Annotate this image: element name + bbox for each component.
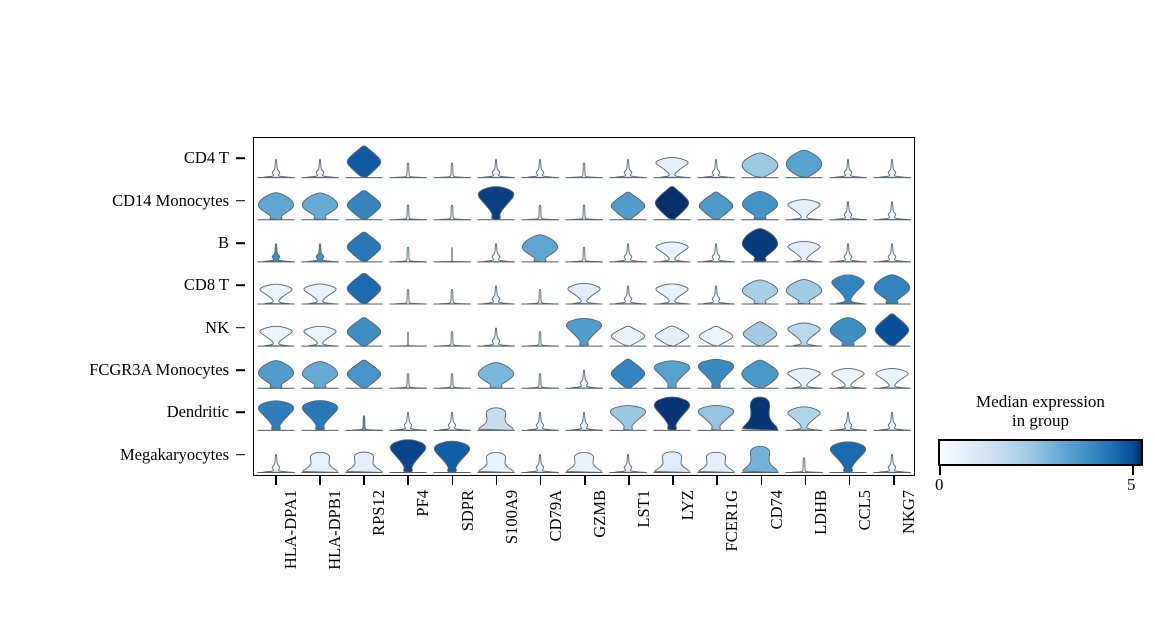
violin-body — [396, 412, 427, 430]
violin-dendritic-hla-dpa1 — [258, 401, 295, 430]
violin-cd8-t-hla-dpb1 — [302, 284, 339, 304]
violin-body — [567, 453, 602, 473]
violin-body — [788, 200, 821, 220]
violin-cd8-t-pf4 — [390, 289, 427, 303]
violin-body — [528, 289, 558, 303]
colorbar-max-label: 5 — [1127, 475, 1136, 495]
violin-megakaryocytes-s100a9 — [478, 453, 515, 473]
violin-fcgr3a-monocytes-sdpr — [434, 374, 471, 388]
violin-b-gzmb — [566, 247, 603, 261]
x-axis-labels: HLA-DPA1HLA-DPB1RPS12PF4SDPRS100A9CD79AG… — [253, 476, 915, 634]
violin-cd14-monocytes-ccl5 — [830, 202, 867, 220]
violin-nk-lst1 — [610, 326, 647, 346]
violin-cd4-t-cd79a — [522, 159, 559, 177]
x-axis-label-hla-dpb1: HLA-DPB1 — [325, 490, 345, 570]
violin-body — [396, 205, 426, 219]
violin-body — [302, 361, 337, 388]
violin-body — [876, 368, 909, 388]
violin-cd14-monocytes-lyz — [654, 186, 691, 219]
violin-cd4-t-ldhb — [786, 150, 823, 177]
violin-body — [304, 326, 337, 346]
y-axis-labels: CD4 TCD14 MonocytesBCD8 TNKFCGR3A Monocy… — [0, 137, 245, 476]
violin-body — [396, 374, 426, 388]
violin-body — [656, 284, 689, 304]
x-tick — [672, 476, 674, 485]
violin-body — [478, 187, 513, 220]
violin-body — [786, 150, 822, 177]
violin-body — [260, 284, 293, 304]
violin-body — [347, 360, 380, 388]
violin-cd14-monocytes-nkg7 — [874, 202, 911, 220]
violin-megakaryocytes-ldhb — [786, 458, 823, 472]
violin-dendritic-pf4 — [390, 412, 427, 430]
violin-body — [743, 397, 778, 430]
violin-body — [396, 289, 426, 303]
x-axis-label-gzmb: GZMB — [590, 490, 610, 538]
violin-body — [264, 244, 295, 262]
violin-nk-hla-dpa1 — [258, 326, 295, 346]
x-axis-label-ldhb: LDHB — [811, 490, 831, 535]
violin-body — [788, 407, 821, 431]
figure-canvas: CD4 TCD14 MonocytesBCD8 TNKFCGR3A Monocy… — [0, 0, 1155, 634]
violin-body — [880, 244, 911, 262]
violin-megakaryocytes-lst1 — [610, 454, 647, 472]
violin-body — [656, 242, 689, 262]
colorbar-wrap: 0 5 — [938, 439, 1143, 466]
y-axis-label-megakaryocytes: Megakaryocytes — [120, 445, 229, 465]
violin-body — [522, 235, 557, 262]
violin-body — [742, 153, 778, 178]
violin-body — [258, 361, 293, 389]
x-tick — [761, 476, 763, 485]
x-axis-label-rps12: RPS12 — [369, 490, 389, 536]
violin-body — [743, 446, 778, 472]
violin-body — [484, 328, 515, 346]
x-axis-label-s100a9: S100A9 — [502, 490, 522, 544]
violin-b-rps12 — [346, 232, 383, 262]
violin-dendritic-fcer1g — [698, 405, 735, 430]
violin-body — [880, 454, 911, 472]
x-tick — [452, 476, 454, 485]
violin-body — [786, 280, 821, 304]
violin-body — [610, 406, 645, 431]
violin-fcgr3a-monocytes-ccl5 — [830, 368, 867, 388]
violin-b-s100a9 — [478, 244, 515, 262]
violin-body — [303, 452, 338, 472]
legend-title-line2: in group — [938, 411, 1143, 430]
violin-dendritic-cd79a — [522, 412, 559, 430]
x-axis-label-lst1: LST1 — [634, 490, 654, 528]
violin-b-fcer1g — [698, 244, 735, 262]
x-tick — [540, 476, 542, 485]
violin-body — [528, 374, 558, 388]
violin-cd14-monocytes-s100a9 — [478, 187, 515, 220]
violin-cd8-t-lyz — [654, 284, 691, 304]
violin-megakaryocytes-pf4 — [390, 440, 427, 473]
colorbar-gradient — [938, 439, 1143, 466]
y-tick — [236, 369, 245, 371]
violin-body — [568, 283, 601, 304]
violin-cd8-t-ccl5 — [830, 275, 867, 304]
x-tick — [407, 476, 409, 485]
violin-body — [704, 244, 735, 262]
violin-cd14-monocytes-lst1 — [610, 192, 647, 220]
violin-body — [260, 326, 293, 346]
violin-cd4-t-sdpr — [434, 163, 471, 177]
violin-dendritic-gzmb — [566, 412, 603, 430]
violin-body — [572, 370, 603, 388]
violin-megakaryocytes-gzmb — [566, 453, 603, 473]
y-axis-label-cd8-t: CD8 T — [184, 275, 229, 295]
violin-body — [698, 405, 733, 430]
x-tick — [628, 476, 630, 485]
violin-body — [440, 289, 470, 303]
violin-cd4-t-nkg7 — [874, 159, 911, 177]
violin-cd14-monocytes-ldhb — [786, 200, 823, 220]
violin-cd8-t-s100a9 — [478, 286, 515, 304]
violin-body — [699, 452, 734, 472]
violin-body — [788, 323, 821, 346]
violin-cd8-t-cd79a — [522, 289, 559, 303]
x-tick — [275, 476, 277, 485]
violin-cd4-t-lyz — [654, 157, 691, 177]
violin-body — [484, 286, 515, 304]
x-axis-label-ccl5: CCL5 — [855, 490, 875, 530]
violin-body — [484, 159, 515, 177]
violin-b-cd74 — [742, 229, 779, 262]
violin-body — [396, 163, 426, 177]
violin-body — [875, 314, 908, 346]
violin-body — [699, 192, 732, 220]
violin-body — [698, 359, 733, 388]
violin-fcgr3a-monocytes-rps12 — [346, 360, 383, 388]
violin-body — [347, 146, 380, 178]
violin-nk-nkg7 — [874, 314, 911, 346]
violin-body — [880, 412, 911, 430]
x-axis-label-sdpr: SDPR — [458, 490, 478, 531]
violin-body — [655, 326, 688, 346]
violin-body — [528, 159, 559, 177]
violin-fcgr3a-monocytes-s100a9 — [478, 362, 515, 388]
x-tick — [805, 476, 807, 485]
violin-megakaryocytes-hla-dpa1 — [258, 454, 295, 472]
violin-body — [528, 332, 558, 346]
violin-cd4-t-hla-dpa1 — [258, 159, 295, 177]
violin-cd14-monocytes-fcer1g — [698, 192, 735, 220]
violin-fcgr3a-monocytes-ldhb — [786, 368, 823, 388]
violin-body — [347, 452, 382, 472]
violin-cd8-t-hla-dpa1 — [258, 284, 295, 304]
violin-body — [440, 412, 471, 430]
violin-megakaryocytes-rps12 — [346, 452, 383, 472]
violin-body — [830, 318, 865, 347]
violin-dendritic-s100a9 — [478, 408, 515, 430]
violin-body — [528, 205, 558, 219]
violin-b-ccl5 — [830, 244, 867, 262]
violin-cd8-t-rps12 — [346, 273, 383, 304]
x-tick — [319, 476, 321, 485]
violin-body — [655, 186, 688, 219]
violin-nk-sdpr — [434, 332, 471, 346]
violin-body — [832, 275, 865, 304]
colorbar-legend: Median expression in group 0 5 — [938, 392, 1148, 466]
violin-body — [347, 232, 380, 262]
violin-cd4-t-lst1 — [610, 159, 647, 177]
colorbar-tick-min — [939, 466, 941, 475]
violin-b-lyz — [654, 242, 691, 262]
violin-body — [484, 244, 515, 262]
y-axis-label-nk: NK — [205, 318, 229, 338]
violin-cd4-t-pf4 — [390, 163, 427, 177]
violin-body — [440, 332, 470, 346]
y-tick — [236, 200, 245, 202]
violin-body — [566, 318, 601, 346]
violin-plot-panel — [253, 137, 915, 476]
violin-b-cd79a — [522, 235, 559, 262]
violin-b-lst1 — [610, 244, 647, 262]
violin-fcgr3a-monocytes-lst1 — [610, 359, 647, 388]
colorbar-min-label: 0 — [935, 475, 944, 495]
violin-body — [611, 359, 644, 388]
violin-body — [478, 362, 513, 388]
violin-body — [264, 159, 295, 177]
y-tick — [236, 412, 245, 414]
violin-dendritic-sdpr — [434, 412, 471, 430]
x-axis-label-nkg7: NKG7 — [899, 490, 919, 534]
violin-body — [742, 191, 777, 219]
violin-nk-s100a9 — [478, 328, 515, 346]
violin-b-hla-dpb1 — [302, 244, 339, 262]
violin-dendritic-cd74 — [742, 397, 779, 430]
violin-body — [788, 241, 821, 262]
violin-body — [390, 440, 425, 473]
violin-body — [743, 322, 776, 346]
violin-body — [742, 360, 779, 388]
x-tick — [849, 476, 851, 485]
violin-megakaryocytes-nkg7 — [874, 454, 911, 472]
violin-cd8-t-gzmb — [566, 283, 603, 304]
violin-nk-ccl5 — [830, 318, 867, 347]
violin-body — [394, 345, 427, 346]
violin-fcgr3a-monocytes-hla-dpa1 — [258, 361, 295, 389]
violin-body — [836, 159, 867, 177]
violin-cd8-t-nkg7 — [874, 275, 911, 304]
violin-dendritic-lyz — [654, 397, 691, 430]
violin-dendritic-rps12 — [346, 416, 383, 430]
violin-fcgr3a-monocytes-fcer1g — [698, 359, 735, 388]
violin-body — [832, 368, 865, 388]
y-axis-label-b: B — [218, 233, 229, 253]
violin-fcgr3a-monocytes-cd74 — [742, 360, 779, 388]
y-axis-label-cd14-monocytes: CD14 Monocytes — [112, 191, 229, 211]
y-tick — [236, 285, 245, 287]
x-axis-label-pf4: PF4 — [413, 490, 433, 517]
violin-body — [836, 412, 867, 430]
violin-body — [258, 193, 293, 220]
violin-cd4-t-fcer1g — [698, 159, 735, 177]
violin-body — [438, 261, 471, 262]
violin-body — [572, 205, 602, 219]
y-tick — [236, 157, 245, 159]
violin-body — [611, 192, 644, 220]
x-axis-label-cd74: CD74 — [767, 490, 787, 529]
violin-cd14-monocytes-pf4 — [390, 205, 427, 219]
violin-body — [742, 280, 777, 304]
violin-cd8-t-ldhb — [786, 280, 823, 304]
x-tick — [716, 476, 718, 485]
violin-body — [440, 163, 470, 177]
x-axis-label-fcer1g: FCER1G — [722, 490, 742, 551]
violin-body — [347, 318, 380, 347]
violin-body — [572, 247, 602, 261]
violin-cd4-t-ccl5 — [830, 159, 867, 177]
violin-body — [396, 247, 426, 261]
violin-body — [836, 202, 867, 220]
violin-nk-pf4 — [390, 332, 427, 346]
violin-cd4-t-rps12 — [346, 146, 383, 178]
legend-title: Median expression in group — [938, 392, 1143, 431]
violin-cd8-t-sdpr — [434, 289, 471, 303]
violin-body — [352, 416, 382, 430]
violin-megakaryocytes-cd74 — [742, 446, 779, 472]
violin-body — [704, 159, 735, 177]
violin-dendritic-hla-dpb1 — [302, 401, 339, 431]
violin-b-hla-dpa1 — [258, 244, 295, 262]
violin-body — [347, 273, 380, 304]
violin-b-pf4 — [390, 247, 427, 261]
violin-body — [704, 286, 735, 304]
y-axis-label-fcgr3a-monocytes: FCGR3A Monocytes — [89, 360, 229, 380]
violin-body — [479, 408, 514, 430]
y-axis-label-dendritic: Dendritic — [167, 402, 229, 422]
violin-cd14-monocytes-cd74 — [742, 191, 779, 219]
violin-fcgr3a-monocytes-hla-dpb1 — [302, 361, 339, 388]
violin-body — [308, 244, 339, 262]
violin-cd8-t-cd74 — [742, 280, 779, 304]
violin-body — [528, 454, 559, 472]
violin-body — [528, 412, 559, 430]
violin-dendritic-ccl5 — [830, 412, 867, 430]
y-tick — [236, 242, 245, 244]
x-axis-label-lyz: LYZ — [678, 490, 698, 520]
violin-cd8-t-fcer1g — [698, 286, 735, 304]
violin-nk-gzmb — [566, 318, 603, 346]
violin-nk-cd79a — [522, 332, 559, 346]
violin-fcgr3a-monocytes-pf4 — [390, 374, 427, 388]
violin-megakaryocytes-ccl5 — [830, 442, 867, 473]
violin-cd4-t-hla-dpb1 — [302, 159, 339, 177]
violin-fcgr3a-monocytes-gzmb — [566, 370, 603, 388]
violin-cd8-t-lst1 — [610, 286, 647, 304]
violin-nk-fcer1g — [698, 326, 735, 346]
violin-nk-hla-dpb1 — [302, 326, 339, 346]
violin-body — [479, 453, 514, 473]
violin-cd14-monocytes-hla-dpb1 — [302, 193, 339, 220]
violin-nk-rps12 — [346, 318, 383, 347]
x-tick — [893, 476, 895, 485]
violin-body — [880, 159, 911, 177]
violin-body — [440, 374, 470, 388]
violin-body — [308, 159, 339, 177]
violin-megakaryocytes-fcer1g — [698, 452, 735, 472]
x-axis-label-cd79a: CD79A — [546, 490, 566, 541]
colorbar-tick-max — [1132, 466, 1134, 475]
violin-body — [616, 286, 647, 304]
violin-body — [880, 202, 911, 220]
violin-fcgr3a-monocytes-lyz — [654, 361, 691, 388]
x-tick — [363, 476, 365, 485]
violin-body — [654, 397, 689, 430]
violin-body — [616, 159, 647, 177]
legend-title-line1: Median expression — [938, 392, 1143, 411]
violin-megakaryocytes-hla-dpb1 — [302, 452, 339, 472]
violin-cd4-t-cd74 — [742, 153, 779, 178]
violin-body — [572, 412, 603, 430]
violin-cd14-monocytes-hla-dpa1 — [258, 193, 295, 220]
violin-nk-cd74 — [742, 322, 779, 346]
x-tick — [584, 476, 586, 485]
violin-body — [611, 326, 644, 346]
x-axis-label-hla-dpa1: HLA-DPA1 — [281, 490, 301, 569]
violin-body — [656, 157, 689, 177]
violin-body — [654, 361, 689, 388]
violin-b-ldhb — [786, 241, 823, 262]
violin-body — [836, 244, 867, 262]
violin-body — [830, 442, 865, 473]
violin-body — [302, 193, 337, 220]
violin-cd14-monocytes-gzmb — [566, 205, 603, 219]
violin-cd4-t-gzmb — [566, 163, 603, 177]
violin-body — [258, 401, 293, 430]
violin-b-sdpr — [434, 247, 471, 261]
violin-grid — [254, 138, 914, 475]
violin-cd14-monocytes-cd79a — [522, 205, 559, 219]
violin-body — [434, 441, 469, 472]
violin-megakaryocytes-lyz — [654, 452, 691, 473]
violin-body — [874, 275, 909, 304]
violin-dendritic-lst1 — [610, 406, 647, 431]
violin-fcgr3a-monocytes-cd79a — [522, 374, 559, 388]
violin-body — [699, 326, 732, 346]
violin-cd14-monocytes-sdpr — [434, 205, 471, 219]
violin-cd14-monocytes-rps12 — [346, 191, 383, 220]
violin-body — [655, 452, 690, 473]
violin-body — [304, 284, 337, 304]
violin-fcgr3a-monocytes-nkg7 — [874, 368, 911, 388]
violin-body — [616, 454, 647, 472]
violin-body — [347, 191, 380, 220]
violin-body — [440, 205, 470, 219]
violin-cd4-t-s100a9 — [478, 159, 515, 177]
y-tick — [236, 327, 245, 329]
x-tick — [496, 476, 498, 485]
violin-body — [572, 163, 602, 177]
y-axis-label-cd4-t: CD4 T — [184, 148, 229, 168]
violin-megakaryocytes-cd79a — [522, 454, 559, 472]
violin-dendritic-ldhb — [786, 407, 823, 431]
violin-body — [742, 229, 777, 262]
violin-body — [792, 458, 822, 472]
violin-body — [616, 244, 647, 262]
violin-body — [788, 368, 821, 388]
y-tick — [236, 454, 245, 456]
violin-dendritic-nkg7 — [874, 412, 911, 430]
violin-nk-ldhb — [786, 323, 823, 346]
violin-nk-lyz — [654, 326, 691, 346]
violin-body — [264, 454, 295, 472]
violin-megakaryocytes-sdpr — [434, 441, 471, 472]
violin-body — [302, 401, 337, 431]
